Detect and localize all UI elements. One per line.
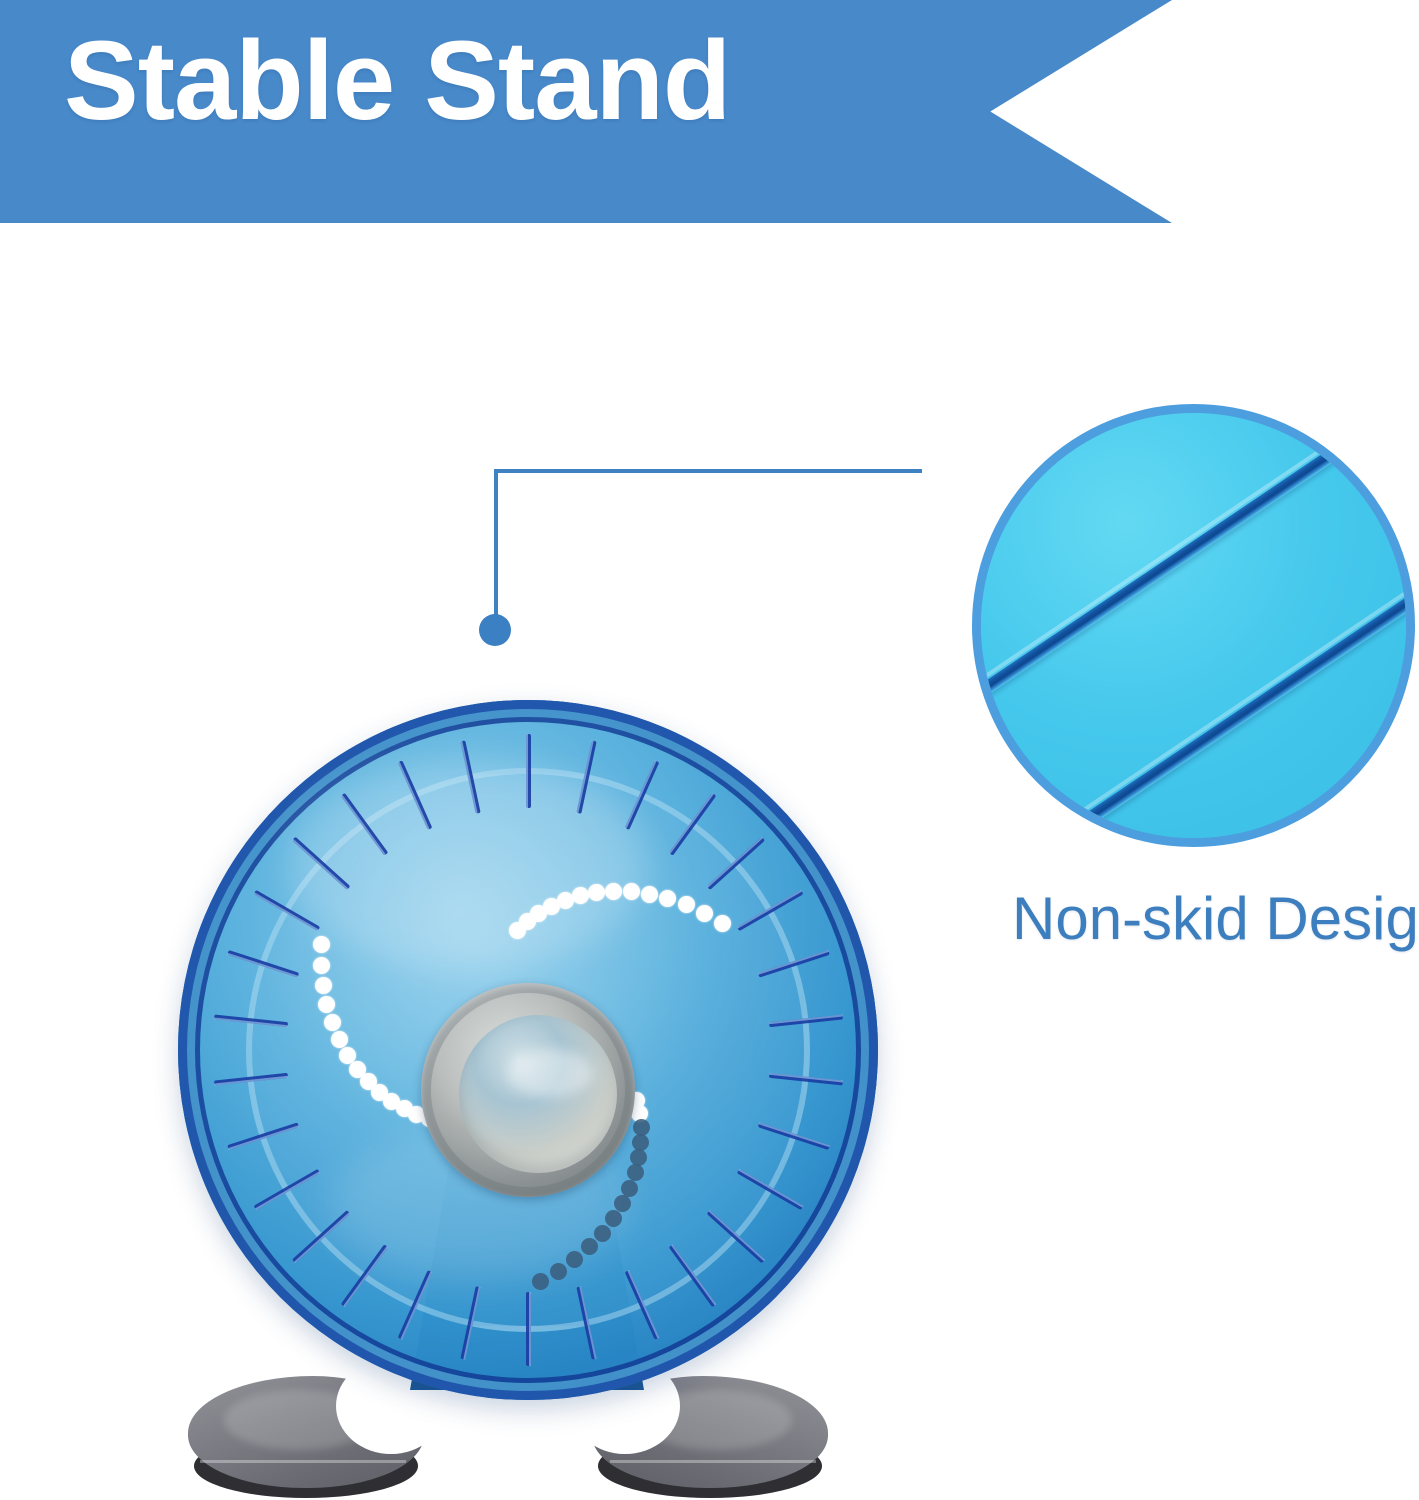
stand-foot-right [592, 1376, 828, 1500]
foot-seam [610, 1460, 816, 1463]
wheel-dot [627, 1164, 644, 1181]
non-skid-closeup-circle [972, 404, 1415, 847]
wheel-dot [594, 1225, 611, 1242]
wheel-dot [532, 1273, 549, 1290]
product-feature-image: Stable Stand Non-skid Design [0, 0, 1419, 1500]
wheel-dot [349, 1061, 366, 1078]
wheel-dot [339, 1047, 356, 1064]
wheel-dot [614, 1195, 631, 1212]
wheel-dot [313, 957, 330, 974]
wheel-tick [526, 1292, 531, 1366]
hub-shine [507, 1049, 593, 1097]
product-photo [160, 660, 900, 1500]
callout-leader-line-horizontal [494, 469, 922, 473]
stand-foot-left [188, 1376, 424, 1500]
callout-leader-line-vertical [494, 469, 498, 629]
callout-label: Non-skid Design [1012, 884, 1419, 953]
wheel-dot [315, 977, 332, 994]
wheel-dot [696, 905, 713, 922]
wheel-tick [526, 734, 531, 808]
wheel-dot [605, 883, 622, 900]
non-skid-surface [981, 413, 1406, 838]
wheel-dot [678, 896, 695, 913]
page-title: Stable Stand [64, 22, 730, 140]
callout-dot-icon [479, 614, 511, 646]
wheel-dot [641, 886, 658, 903]
wheel-dot [550, 1263, 567, 1280]
wheel-dot [605, 1210, 622, 1227]
wheel-dot [313, 936, 330, 953]
wheel-dot [331, 1031, 348, 1048]
foot-seam [200, 1460, 406, 1463]
exercise-wheel-disc [178, 700, 878, 1400]
hub-ring [431, 993, 625, 1187]
wheel-gloss-highlight [288, 760, 648, 970]
wheel-dot [324, 1014, 341, 1031]
hub-dome [459, 1015, 617, 1173]
wheel-hub [421, 983, 635, 1197]
